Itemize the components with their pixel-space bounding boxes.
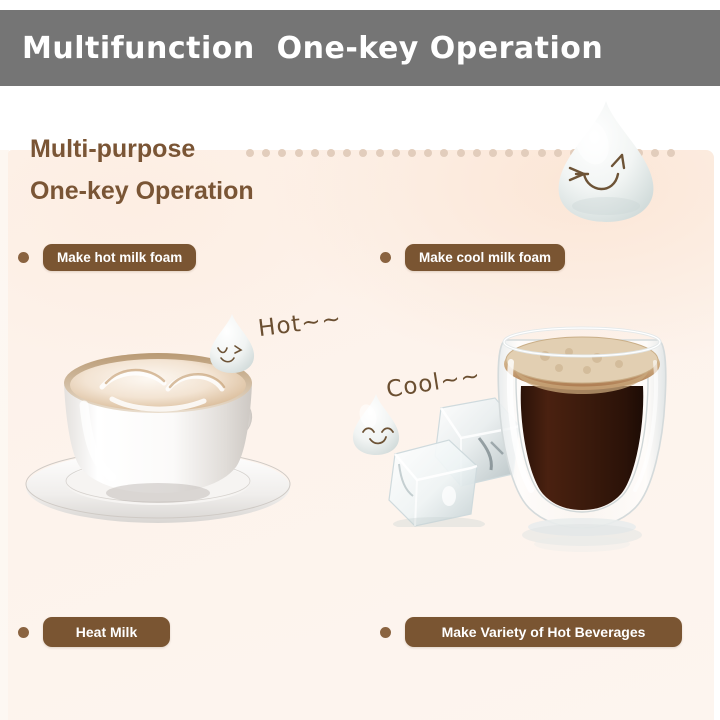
header-banner: Multifunction One-key Operation — [0, 10, 720, 86]
heading-block: Multi-purpose One-key Operation — [30, 128, 254, 212]
divider-dot — [667, 149, 675, 157]
badge-label: Make hot milk foam — [43, 244, 196, 271]
badge-label: Make Variety of Hot Beverages — [405, 617, 682, 647]
divider-dot — [327, 149, 335, 157]
divider-dot — [489, 149, 497, 157]
divider-dot — [424, 149, 432, 157]
milk-foam-droplet-winking-icon — [548, 98, 664, 224]
milk-foam-droplet-icon — [205, 312, 259, 374]
divider-dot — [538, 149, 546, 157]
badge-label: Heat Milk — [43, 617, 170, 647]
bullet-icon — [18, 252, 29, 263]
bullet-icon — [380, 252, 391, 263]
divider-dot — [408, 149, 416, 157]
page-title: Multifunction One-key Operation — [22, 31, 603, 66]
badge-make-variety-of-hot-beverages[interactable]: Make Variety of Hot Beverages — [380, 617, 682, 647]
divider-dot — [295, 149, 303, 157]
divider-dot — [505, 149, 513, 157]
divider-dot — [376, 149, 384, 157]
divider-dot — [457, 149, 465, 157]
divider-dot — [262, 149, 270, 157]
badge-heat-milk[interactable]: Heat Milk — [18, 617, 170, 647]
divider-dot — [521, 149, 529, 157]
divider-dot — [343, 149, 351, 157]
divider-dot — [311, 149, 319, 157]
divider-dot — [278, 149, 286, 157]
double-wall-espresso-glass-photo — [485, 322, 680, 557]
heading-line-1: Multi-purpose — [30, 128, 254, 170]
divider-dot — [392, 149, 400, 157]
bullet-icon — [18, 627, 29, 638]
divider-dot — [473, 149, 481, 157]
divider-dot — [359, 149, 367, 157]
bullet-icon — [380, 627, 391, 638]
badge-make-cool-milk-foam[interactable]: Make cool milk foam — [380, 244, 565, 271]
badge-make-hot-milk-foam[interactable]: Make hot milk foam — [18, 244, 196, 271]
badge-label: Make cool milk foam — [405, 244, 565, 271]
product-feature-poster: Multifunction One-key Operation Multi-pu… — [0, 0, 720, 720]
heading-line-2: One-key Operation — [30, 170, 254, 212]
divider-dot — [440, 149, 448, 157]
